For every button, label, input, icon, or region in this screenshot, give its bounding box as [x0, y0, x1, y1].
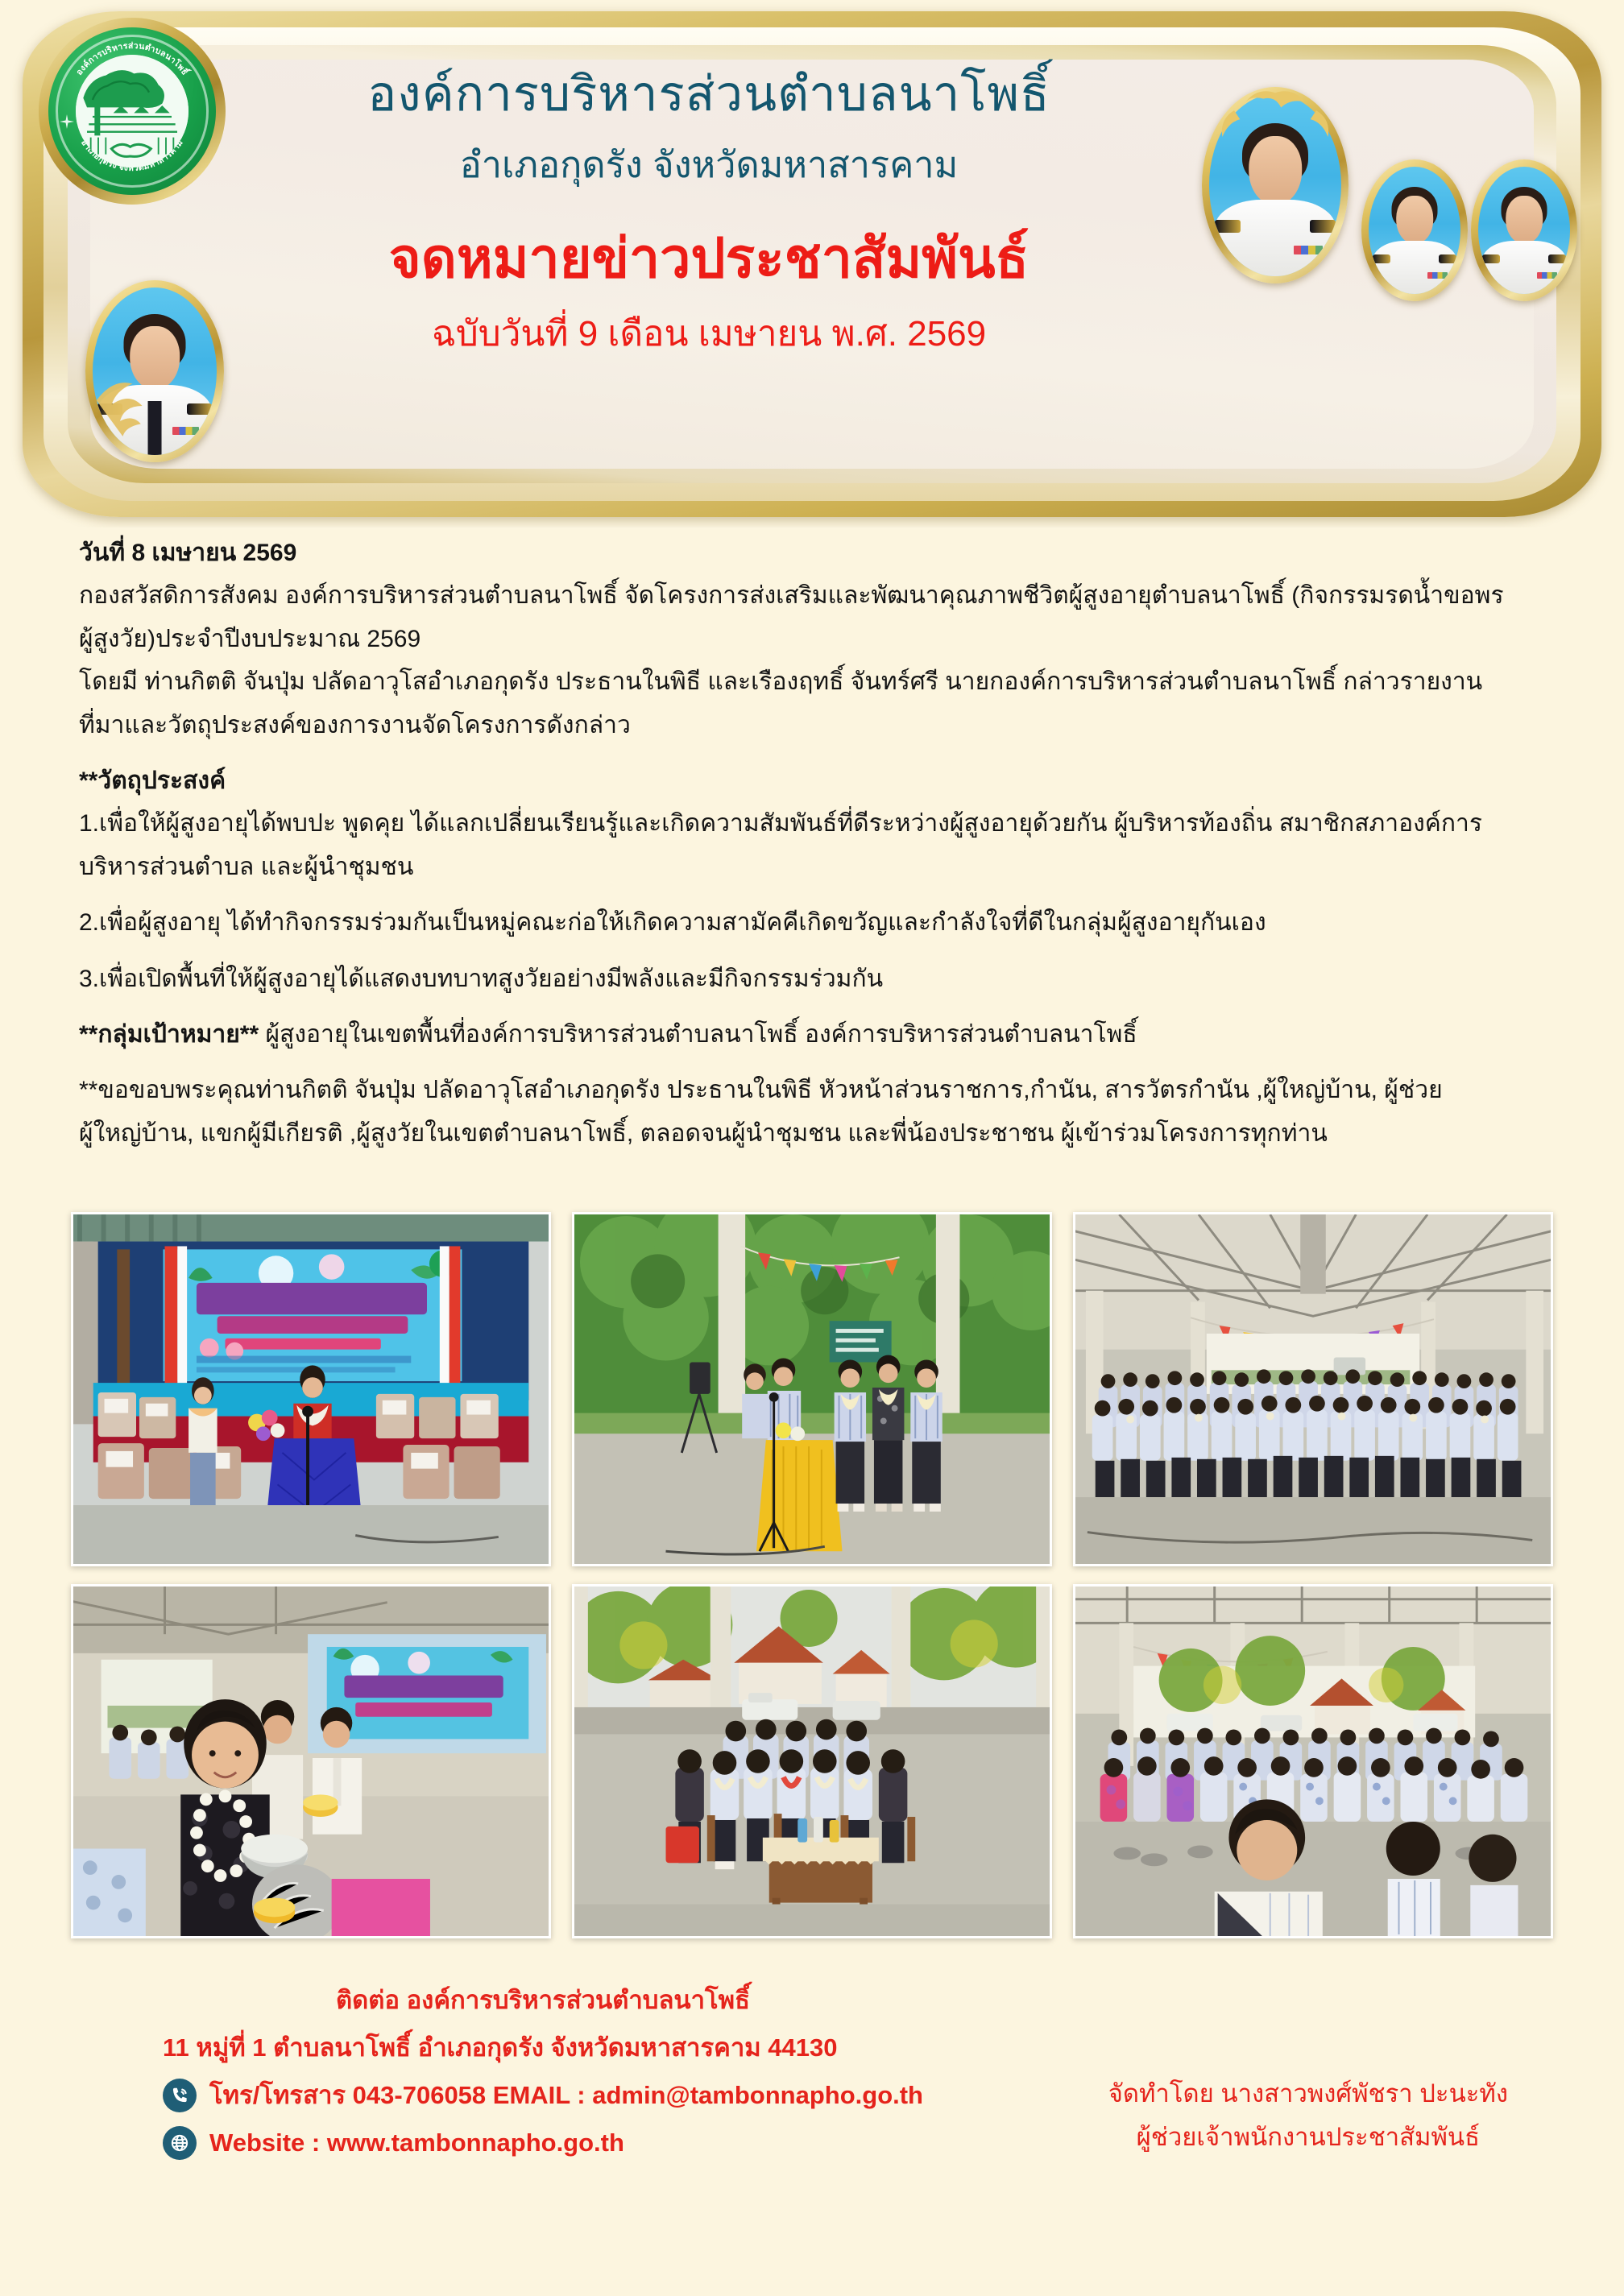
article-paragraph-line: โดยมี ท่านกิตติ จันปุ่ม ปลัดอาวุโสอำเภอก…	[79, 660, 1545, 703]
newsletter-title: จดหมายข่าวประชาสัมพันธ์	[266, 226, 1152, 292]
seal-green-disc: องค์การบริหารส่วนตำบลนาโพธิ์ อำเภอกุดรัง…	[48, 27, 216, 195]
portrait-officer-secondary	[1361, 159, 1468, 301]
portrait-uniform	[1373, 241, 1457, 294]
credit-position: ผู้ช่วยเจ้าพนักงานประชาสัมพันธ์	[1108, 2116, 1508, 2159]
portrait-epaulette-right	[1548, 254, 1567, 263]
header-text-block: องค์การบริหารส่วนตำบลนาโพธิ์ อำเภอกุดรัง…	[266, 64, 1152, 356]
portrait-officer-tertiary	[1471, 159, 1577, 301]
photo-podium-speaker-art	[73, 1214, 549, 1564]
portrait-uniform	[1215, 200, 1336, 276]
portrait-medal-ribbon	[172, 427, 200, 435]
portrait-face	[1249, 136, 1302, 205]
portrait-epaulette-right	[1439, 254, 1457, 263]
portrait-officer-primary	[1202, 87, 1348, 283]
contact-website-text: Website : www.tambonnapho.go.th	[209, 2120, 624, 2167]
footer-contact-block: ติดต่อ องค์การบริหารส่วนตำบลนาโพธิ์ 11 ห…	[79, 1977, 923, 2167]
header-banner: องค์การบริหารส่วนตำบลนาโพธิ์ อำเภอกุดรัง…	[0, 0, 1624, 527]
article-body: วันที่ 8 เมษายน 2569 กองสวัสดิการสังคม อ…	[0, 532, 1624, 1155]
issue-date: ฉบับวันที่ 9 เดือน เมษายน พ.ศ. 2569	[266, 313, 1152, 356]
contact-address: 11 หมู่ที่ 1 ตำบลนาโพธิ์ อำเภอกุดรัง จัง…	[163, 2025, 923, 2072]
phone-icon	[163, 2079, 197, 2112]
target-group-label: **กลุ่มเป้าหมาย**	[79, 1021, 259, 1048]
organization-title: องค์การบริหารส่วนตำบลนาโพธิ์	[266, 64, 1152, 123]
photo-row-bottom	[71, 1584, 1553, 1938]
photo-water-blessing[interactable]	[71, 1584, 551, 1938]
portrait-medal-ribbon	[1537, 272, 1557, 279]
portrait-epaulette-right	[1310, 220, 1336, 233]
footer: ติดต่อ องค์การบริหารส่วนตำบลนาโพธิ์ 11 ห…	[0, 1977, 1624, 2167]
objective-item-3: 3.เพื่อเปิดพื้นที่ให้ผู้สูงอายุได้แสดงบท…	[79, 958, 1545, 1000]
portrait-photo	[93, 288, 217, 455]
contact-website-row[interactable]: Website : www.tambonnapho.go.th	[163, 2120, 923, 2167]
photo-podium-speaker[interactable]	[71, 1212, 551, 1566]
portrait-uniform	[1482, 241, 1567, 294]
municipal-seal-logo: องค์การบริหารส่วนตำบลนาโพธิ์ อำเภอกุดรัง…	[39, 18, 226, 205]
portrait-epaulette-left	[1215, 220, 1241, 233]
photo-water-blessing-art	[73, 1587, 549, 1936]
objective-item-1-cont: บริหารส่วนตำบล และผู้นำชุมชน	[79, 846, 1545, 888]
portrait-face	[130, 326, 180, 390]
seal-emblem-center	[76, 55, 188, 168]
acknowledgement-line-1: **ขอขอบพระคุณท่านกิตติ จันปุ่ม ปลัดอาวุโ…	[79, 1069, 1545, 1111]
portrait-medal-ribbon	[1427, 272, 1448, 279]
portrait-officer-left	[85, 280, 224, 462]
contact-heading: ติดต่อ องค์การบริหารส่วนตำบลนาโพธิ์	[163, 1977, 923, 2025]
photo-group-assembly[interactable]	[1073, 1212, 1553, 1566]
credit-author: จัดทำโดย นางสาวพงศ์พัชรา ปะนะทัง	[1108, 2072, 1508, 2116]
article-date-line: วันที่ 8 เมษายน 2569	[79, 532, 1545, 574]
portrait-epaulette-left	[1482, 254, 1501, 263]
article-paragraph-line: ผู้สูงวัย)ประจำปีงบประมาณ 2569	[79, 618, 1545, 660]
portrait-face	[1506, 196, 1543, 244]
portrait-epaulette-right	[187, 403, 212, 416]
portrait-epaulette-left	[1373, 254, 1391, 263]
photo-outdoor-ceremony[interactable]	[572, 1212, 1052, 1566]
target-group-line: **กลุ่มเป้าหมาย** ผู้สูงอายุในเขตพื้นที่…	[79, 1013, 1545, 1056]
article-content: วันที่ 8 เมษายน 2569 กองสวัสดิการสังคม อ…	[0, 532, 1624, 1155]
photo-crowd-hall[interactable]	[1073, 1584, 1553, 1938]
photo-gallery	[0, 1212, 1624, 1956]
portrait-photo	[1478, 167, 1570, 294]
globe-icon	[163, 2126, 197, 2160]
seal-emblem-art	[76, 55, 188, 168]
contact-phone-text: โทร/โทรสาร 043-706058 EMAIL : admin@tamb…	[209, 2072, 923, 2120]
portrait-face	[1396, 196, 1433, 244]
organization-subtitle: อำเภอกุดรัง จังหวัดมหาสารคาม	[266, 143, 1152, 188]
photo-outdoor-ceremony-art	[574, 1214, 1050, 1564]
photo-row-top	[71, 1212, 1553, 1566]
photo-seated-elders-art	[574, 1587, 1050, 1936]
contact-phone-row[interactable]: โทร/โทรสาร 043-706058 EMAIL : admin@tamb…	[163, 2072, 923, 2120]
acknowledgement-line-2: ผู้ใหญ่บ้าน, แขกผู้มีเกียรติ ,ผู้สูงวัยใ…	[79, 1112, 1545, 1155]
photo-group-assembly-art	[1075, 1214, 1551, 1564]
objectives-heading: **วัตถุประสงค์	[79, 759, 1545, 802]
objective-item-1: 1.เพื่อให้ผู้สูงอายุได้พบปะ พูดคุย ได้แล…	[79, 802, 1545, 845]
photo-crowd-hall-art	[1075, 1587, 1551, 1936]
article-paragraph-line: ที่มาและวัตถุประสงค์ของการงานจัดโครงการด…	[79, 704, 1545, 747]
phone-glyph	[169, 2085, 190, 2106]
portrait-photo	[1209, 94, 1341, 276]
portrait-medal-ribbon	[1294, 246, 1323, 254]
footer-credit-block: จัดทำโดย นางสาวพงศ์พัชรา ปะนะทัง ผู้ช่วย…	[1108, 1977, 1545, 2160]
target-group-text: ผู้สูงอายุในเขตพื้นที่องค์การบริหารส่วนต…	[259, 1021, 1137, 1048]
objective-item-2: 2.เพื่อผู้สูงอายุ ได้ทำกิจกรรมร่วมกันเป็…	[79, 901, 1545, 944]
portrait-necktie	[148, 401, 162, 455]
portrait-photo	[1369, 167, 1460, 294]
portrait-epaulette-left	[97, 403, 122, 416]
photo-seated-elders[interactable]	[572, 1584, 1052, 1938]
article-paragraph-line: กองสวัสดิการสังคม องค์การบริหารส่วนตำบลน…	[79, 574, 1545, 617]
globe-glyph	[169, 2133, 190, 2153]
